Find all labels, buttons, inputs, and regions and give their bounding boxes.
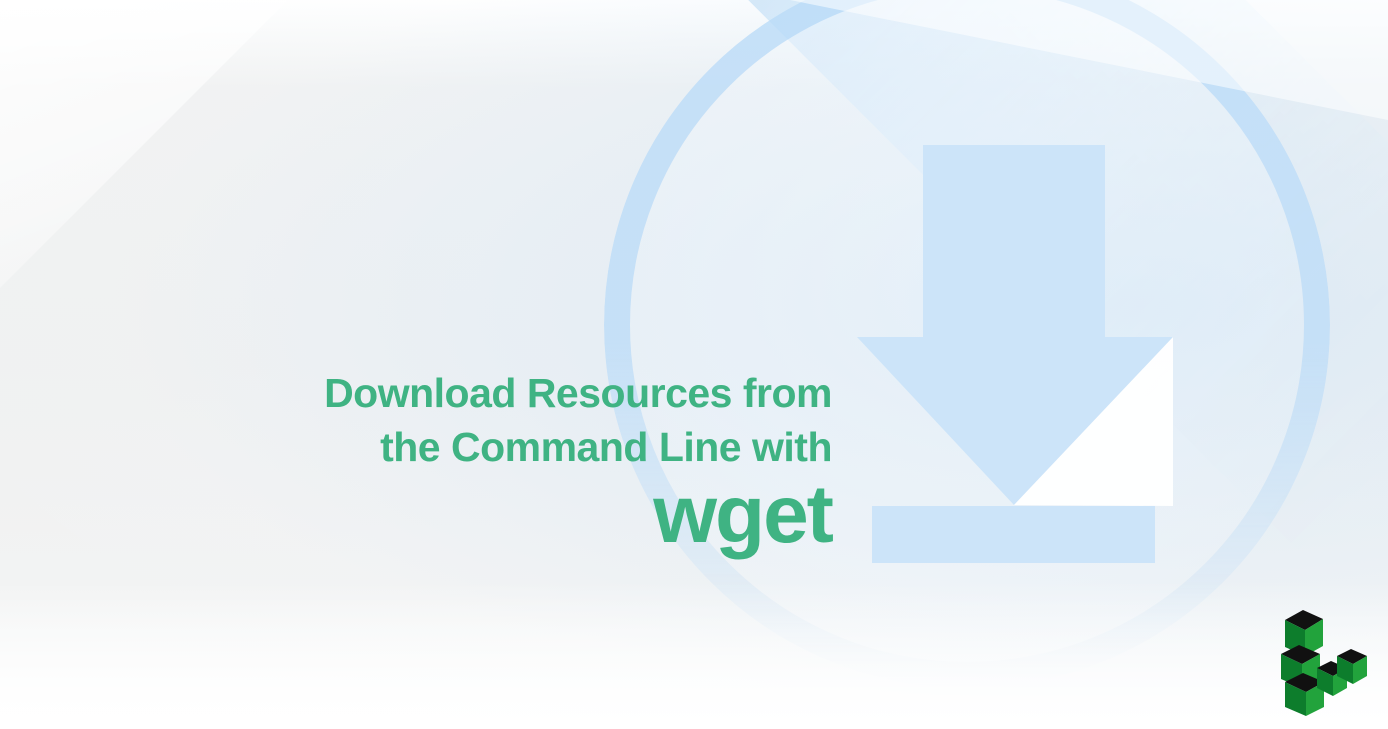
background-color-wash xyxy=(0,0,1388,729)
headline-brand-wget: wget xyxy=(60,474,832,556)
headline-line-2: the Command Line with xyxy=(60,426,832,469)
download-arrow-icon xyxy=(855,145,1175,565)
headline-line-1: Download Resources from xyxy=(60,372,832,415)
slide-canvas: Download Resources from the Command Line… xyxy=(0,0,1388,729)
page-title: Download Resources from the Command Line… xyxy=(60,372,832,556)
cube-blocks-logo xyxy=(1279,606,1369,718)
